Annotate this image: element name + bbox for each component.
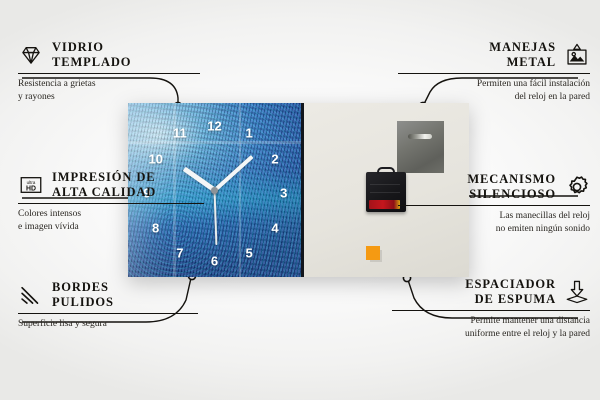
framed-picture-icon	[564, 42, 590, 68]
clock-numeral: 7	[176, 246, 183, 259]
callout-header: VIDRIO TEMPLADO	[18, 40, 200, 70]
callout-header: BORDES PULIDOS	[18, 280, 198, 310]
callout-title: MANEJAS METAL	[489, 40, 556, 70]
callout-bordes-pulidos: BORDES PULIDOS Superficie lisa y segura	[18, 280, 198, 331]
hanger-slot	[408, 134, 432, 139]
clock-minute-hand	[213, 155, 253, 191]
foam-spacer	[366, 246, 380, 260]
callout-description: Las manecillas del reloj no emiten ningú…	[398, 210, 590, 235]
face-grid-line	[239, 103, 241, 277]
callout-title: ESPACIADOR DE ESPUMA	[465, 277, 556, 307]
clock-numeral: 5	[245, 246, 252, 259]
foam-spacer-icon	[564, 279, 590, 305]
diamond-icon	[18, 42, 44, 68]
mechanism-seam	[370, 192, 400, 193]
clock-numeral: 1	[245, 126, 252, 139]
clock-numeral: 11	[173, 126, 187, 139]
ultra-hd-icon: ultra HD	[18, 172, 44, 198]
callout-title: VIDRIO TEMPLADO	[52, 40, 131, 70]
callout-description: Colores intensos e imagen vívida	[18, 208, 204, 233]
callout-espaciador-espuma: ESPACIADOR DE ESPUMA Permite mantener un…	[392, 277, 590, 340]
callout-vidrio-templado: VIDRIO TEMPLADO Resistencia a grietas y …	[18, 40, 200, 103]
callout-description: Resistencia a grietas y rayones	[18, 78, 200, 103]
callout-title: BORDES PULIDOS	[52, 280, 114, 310]
callout-description: Permiten una fácil instalación del reloj…	[398, 78, 590, 103]
callout-header: MECANISMO SILENCIOSO	[398, 172, 590, 202]
callout-divider	[18, 73, 200, 75]
face-grid-line	[128, 141, 301, 144]
clock-center-cap	[211, 187, 218, 194]
clock-numeral: 4	[271, 222, 278, 235]
callout-divider	[18, 203, 204, 205]
polished-edge-icon	[18, 282, 44, 308]
clock-second-hand	[214, 190, 217, 245]
clock-numeral: 6	[211, 255, 218, 268]
callout-manejas-metal: MANEJAS METAL Permiten una fácil instala…	[398, 40, 590, 103]
svg-text:ultra: ultra	[27, 180, 36, 185]
callout-header: MANEJAS METAL	[398, 40, 590, 70]
metal-hanger-plate	[397, 121, 444, 173]
callout-description: Permite mantener una distancia uniforme …	[392, 315, 590, 340]
clock-numeral: 2	[271, 152, 278, 165]
clock-numeral: 12	[207, 119, 221, 132]
svg-text:HD: HD	[26, 185, 36, 192]
callout-divider	[18, 313, 198, 315]
callout-divider	[398, 205, 590, 207]
clock-numeral: 10	[148, 152, 162, 165]
infographic-canvas: 12 1 2 3 4 5 6 7 8 9 10 11	[0, 0, 600, 400]
callout-mecanismo-silencioso: MECANISMO SILENCIOSO Las manecillas del …	[398, 172, 590, 235]
callout-title: MECANISMO SILENCIOSO	[467, 172, 556, 202]
callout-description: Superficie lisa y segura	[18, 318, 198, 331]
gear-icon	[564, 174, 590, 200]
callout-header: ultra HD IMPRESIÓN DE ALTA CALIDAD	[18, 170, 204, 200]
battery	[369, 200, 400, 209]
clock-numeral: 3	[280, 187, 287, 200]
callout-impresion-alta-calidad: ultra HD IMPRESIÓN DE ALTA CALIDAD Color…	[18, 170, 204, 233]
callout-header: ESPACIADOR DE ESPUMA	[392, 277, 590, 307]
callout-title: IMPRESIÓN DE ALTA CALIDAD	[52, 170, 156, 200]
mechanism-hook	[377, 167, 395, 174]
mechanism-seam	[370, 184, 400, 185]
callout-divider	[398, 73, 590, 75]
callout-divider	[392, 310, 590, 312]
